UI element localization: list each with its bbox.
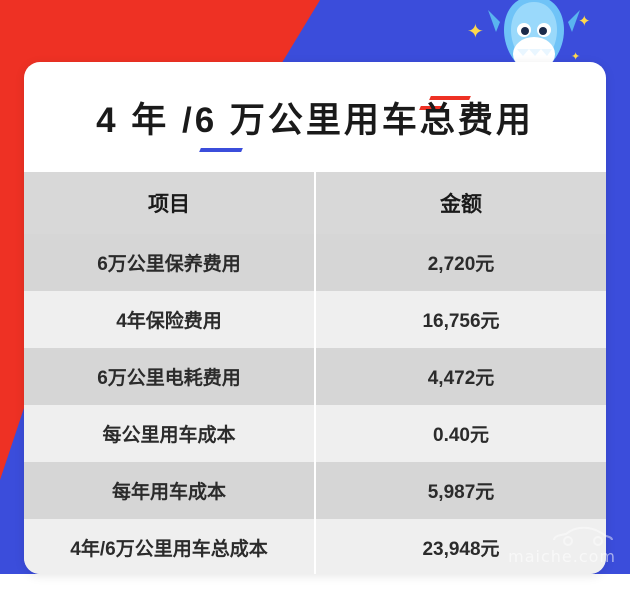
column-header-amount: 金额 [315,172,606,234]
table-row: 每年用车成本 5,987元 [24,462,606,519]
title-area: 4 年 /6 万公里用车总费用 [24,62,606,172]
page-title: 4 年 /6 万公里用车总费用 [24,92,606,143]
column-header-item: 项目 [24,172,315,234]
row-item-label: 每年用车成本 [24,462,315,519]
poster-canvas: ✦ ✦ ✦ 4 年 /6 万公里用车总费用 [0,0,630,600]
row-item-label: 4年/6万公里用车总成本 [24,519,315,574]
cost-table: 项目 金额 6万公里保养费用 2,720元 4年保险费用 16,756元 6万公… [24,172,606,574]
row-item-label: 6万公里电耗费用 [24,348,315,405]
row-item-label: 每公里用车成本 [24,405,315,462]
row-amount-value: 16,756元 [315,291,606,348]
table-header-row: 项目 金额 [24,172,606,234]
row-amount-value: 2,720元 [315,234,606,291]
background-white-strip [0,574,630,600]
row-item-label: 4年保险费用 [24,291,315,348]
table-row: 每公里用车成本 0.40元 [24,405,606,462]
decoration-blue-stroke [199,148,243,152]
sparkle-icon: ✦ [467,22,484,42]
row-amount-value: 0.40元 [315,405,606,462]
table-row: 6万公里电耗费用 4,472元 [24,348,606,405]
row-item-label: 6万公里保养费用 [24,234,315,291]
table-row: 4年保险费用 16,756元 [24,291,606,348]
car-watermark-icon [550,522,614,548]
content-card: 4 年 /6 万公里用车总费用 项目 金额 6万公里保养费用 2,720元 [24,62,606,574]
table-row: 6万公里保养费用 2,720元 [24,234,606,291]
row-amount-value: 5,987元 [315,462,606,519]
watermark-text: maiche.com [508,547,616,566]
row-amount-value: 4,472元 [315,348,606,405]
